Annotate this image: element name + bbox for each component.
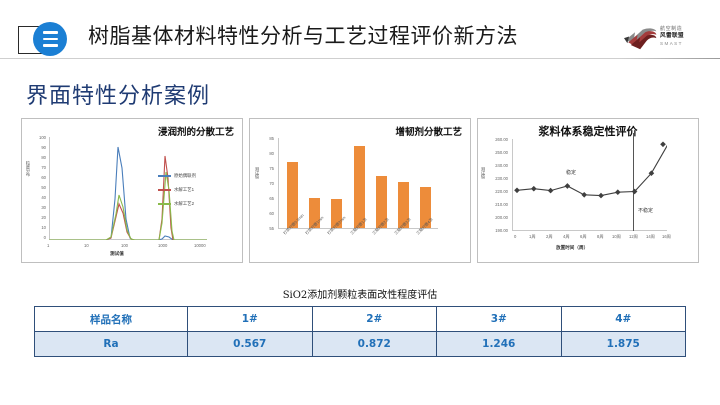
legend-label: 水解工艺2 [174, 201, 194, 207]
chart-2-yaxis [278, 138, 279, 229]
chart-3-title: 浆料体系稳定性评价 [539, 123, 638, 139]
chart-2-title: 增韧剂分散工艺 [395, 124, 462, 138]
chart-3-xtick: 16周 [662, 234, 671, 240]
chart-3-xtick: 1周 [529, 234, 536, 240]
chart-3-ytick: 190.00 [486, 228, 508, 233]
page-title: 树脂基体材料特性分析与工艺过程评价新方法 [88, 20, 518, 50]
chart-1-ytick: 70 [30, 165, 46, 170]
chart-3-ytick: 260.00 [486, 137, 508, 142]
chart-1-xtick: 10 [84, 243, 89, 248]
table-header-cell: 3# [437, 307, 562, 332]
chart-1-xtick: 100 [121, 243, 128, 248]
legend-swatch-icon [158, 189, 171, 191]
chart-2-ytick: 80 [260, 151, 274, 156]
chart-1-ytick: 30 [30, 205, 46, 210]
table-header-cell: 1# [188, 307, 313, 332]
chart-3-xlabel: 放置时间（周） [556, 245, 588, 251]
table-header-cell: 2# [312, 307, 437, 332]
chart-3-xtick: 12周 [629, 234, 638, 240]
section-heading: 界面特性分析案例 [26, 78, 210, 110]
chart-2-ytick: 55 [260, 226, 274, 231]
chart-3-ytick: 230.00 [486, 176, 508, 181]
table-header-cell: 样品名称 [35, 307, 188, 332]
chart-1-legend-item: 原始偶联剂 [158, 173, 196, 179]
chart-3-xtick: 2周 [546, 234, 553, 240]
chart-3-plot [512, 139, 667, 231]
chart-1-ytick: 10 [30, 225, 46, 230]
chart-2-ytick: 65 [260, 196, 274, 201]
chart-2-ytick: 60 [260, 211, 274, 216]
chart-1-ytick: 60 [30, 175, 46, 180]
chart-3-xtick: 10周 [612, 234, 621, 240]
chart-3-xtick: 4周 [563, 234, 570, 240]
chart-1-xtick: 1 [47, 243, 49, 248]
legend-swatch-icon [158, 203, 171, 205]
chart-2-ytick: 75 [260, 166, 274, 171]
legend-label: 原始偶联剂 [174, 173, 196, 179]
table-title: SiO2添加剂颗粒表面改性程度评估 [0, 286, 720, 301]
chart-3-xtick: 8周 [597, 234, 604, 240]
chart-1-ytick: 100 [30, 135, 46, 140]
logo-cn-main: 风雷联盟 [660, 32, 710, 40]
logo-mark-icon [624, 26, 658, 52]
chart-1-xtick: 10000 [194, 243, 206, 248]
chart-1-ytick: 0 [30, 235, 46, 240]
chart-2-ytick: 85 [260, 136, 274, 141]
chart-1-ytick: 20 [30, 215, 46, 220]
chart-3-ytick: 200.00 [486, 215, 508, 220]
chart-1-ytick: 80 [30, 155, 46, 160]
chart-2-ytick: 70 [260, 181, 274, 186]
chart-3-xtick: 14周 [646, 234, 655, 240]
legend-label: 水解工艺1 [174, 187, 194, 193]
chart-1-ytick: 50 [30, 185, 46, 190]
surface-modification-table: 样品名称 1# 2# 3# 4# Ra 0.567 0.872 1.246 1.… [34, 306, 686, 357]
chart-1-ytick: 90 [30, 145, 46, 150]
table-cell: 0.872 [312, 332, 437, 357]
table-row: Ra 0.567 0.872 1.246 1.875 [35, 332, 686, 357]
chart-slurry-stability: 浆料体系稳定性评价 测试值 260.00 250.00 240.00 230.0… [477, 118, 699, 263]
chart-3-ytick: 240.00 [486, 163, 508, 168]
chart-wetting-agent: 浸润剂的分散工艺 粒度分布 100 90 80 70 60 50 40 30 2… [21, 118, 243, 263]
legend-swatch-icon [158, 175, 171, 177]
chart-1-xtick: 1000 [158, 243, 167, 248]
slide-header: 树脂基体材料特性分析与工艺过程评价新方法 航空制造 风雷联盟 SMAST [0, 0, 720, 68]
chart-3-ytick: 210.00 [486, 202, 508, 207]
chart-3-annotation-stable: 稳定 [566, 169, 576, 176]
brand-logo: 航空制造 风雷联盟 SMAST [624, 24, 710, 54]
chart-1-legend-item: 水解工艺2 [158, 201, 194, 207]
chart-3-xtick: 6周 [580, 234, 587, 240]
table-header-cell: 4# [561, 307, 686, 332]
chart-3-ytick: 220.00 [486, 189, 508, 194]
chart-1-ytick: 40 [30, 195, 46, 200]
logo-en-text: SMAST [660, 40, 710, 47]
charts-row: 浸润剂的分散工艺 粒度分布 100 90 80 70 60 50 40 30 2… [21, 118, 699, 263]
hamburger-menu-icon[interactable] [33, 22, 67, 56]
table-row-label: Ra [35, 332, 188, 357]
chart-1-legend-item: 水解工艺1 [158, 187, 194, 193]
table-header-row: 样品名称 1# 2# 3# 4# [35, 307, 686, 332]
chart-3-ytick: 250.00 [486, 150, 508, 155]
chart-1-xlabel: 测试值 [110, 251, 124, 257]
header-divider [0, 58, 720, 59]
chart-3-annotation-unstable: 不稳定 [638, 207, 653, 214]
chart-3-xtick: 0 [514, 234, 516, 239]
table-cell: 0.567 [188, 332, 313, 357]
slide-root: 树脂基体材料特性分析与工艺过程评价新方法 航空制造 风雷联盟 SMAST 界面特… [0, 0, 720, 405]
chart-toughener: 增韧剂分散工艺 测试值 85 80 75 70 65 60 55 打浆分散0.5… [249, 118, 471, 263]
chart-1-title: 浸润剂的分散工艺 [158, 124, 234, 138]
table-cell: 1.246 [437, 332, 562, 357]
logo-text-block: 航空制造 风雷联盟 SMAST [660, 26, 710, 47]
table-cell: 1.875 [561, 332, 686, 357]
